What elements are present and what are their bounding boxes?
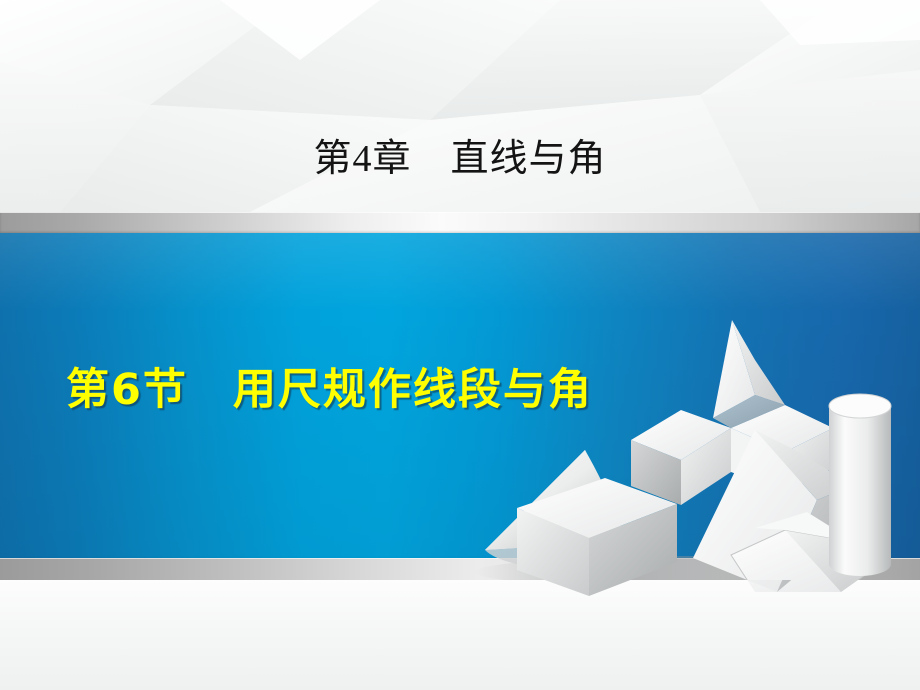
banner-top-bevel: [0, 212, 920, 233]
chapter-title: 第4章 直线与角: [0, 136, 920, 182]
geometric-solids-illustration: [455, 300, 920, 600]
ground-shelf: [0, 580, 920, 690]
slide-canvas: 第4章 直线与角 第6节 用尺规作线段与角: [0, 0, 920, 690]
solid-cylinder: [829, 394, 891, 576]
